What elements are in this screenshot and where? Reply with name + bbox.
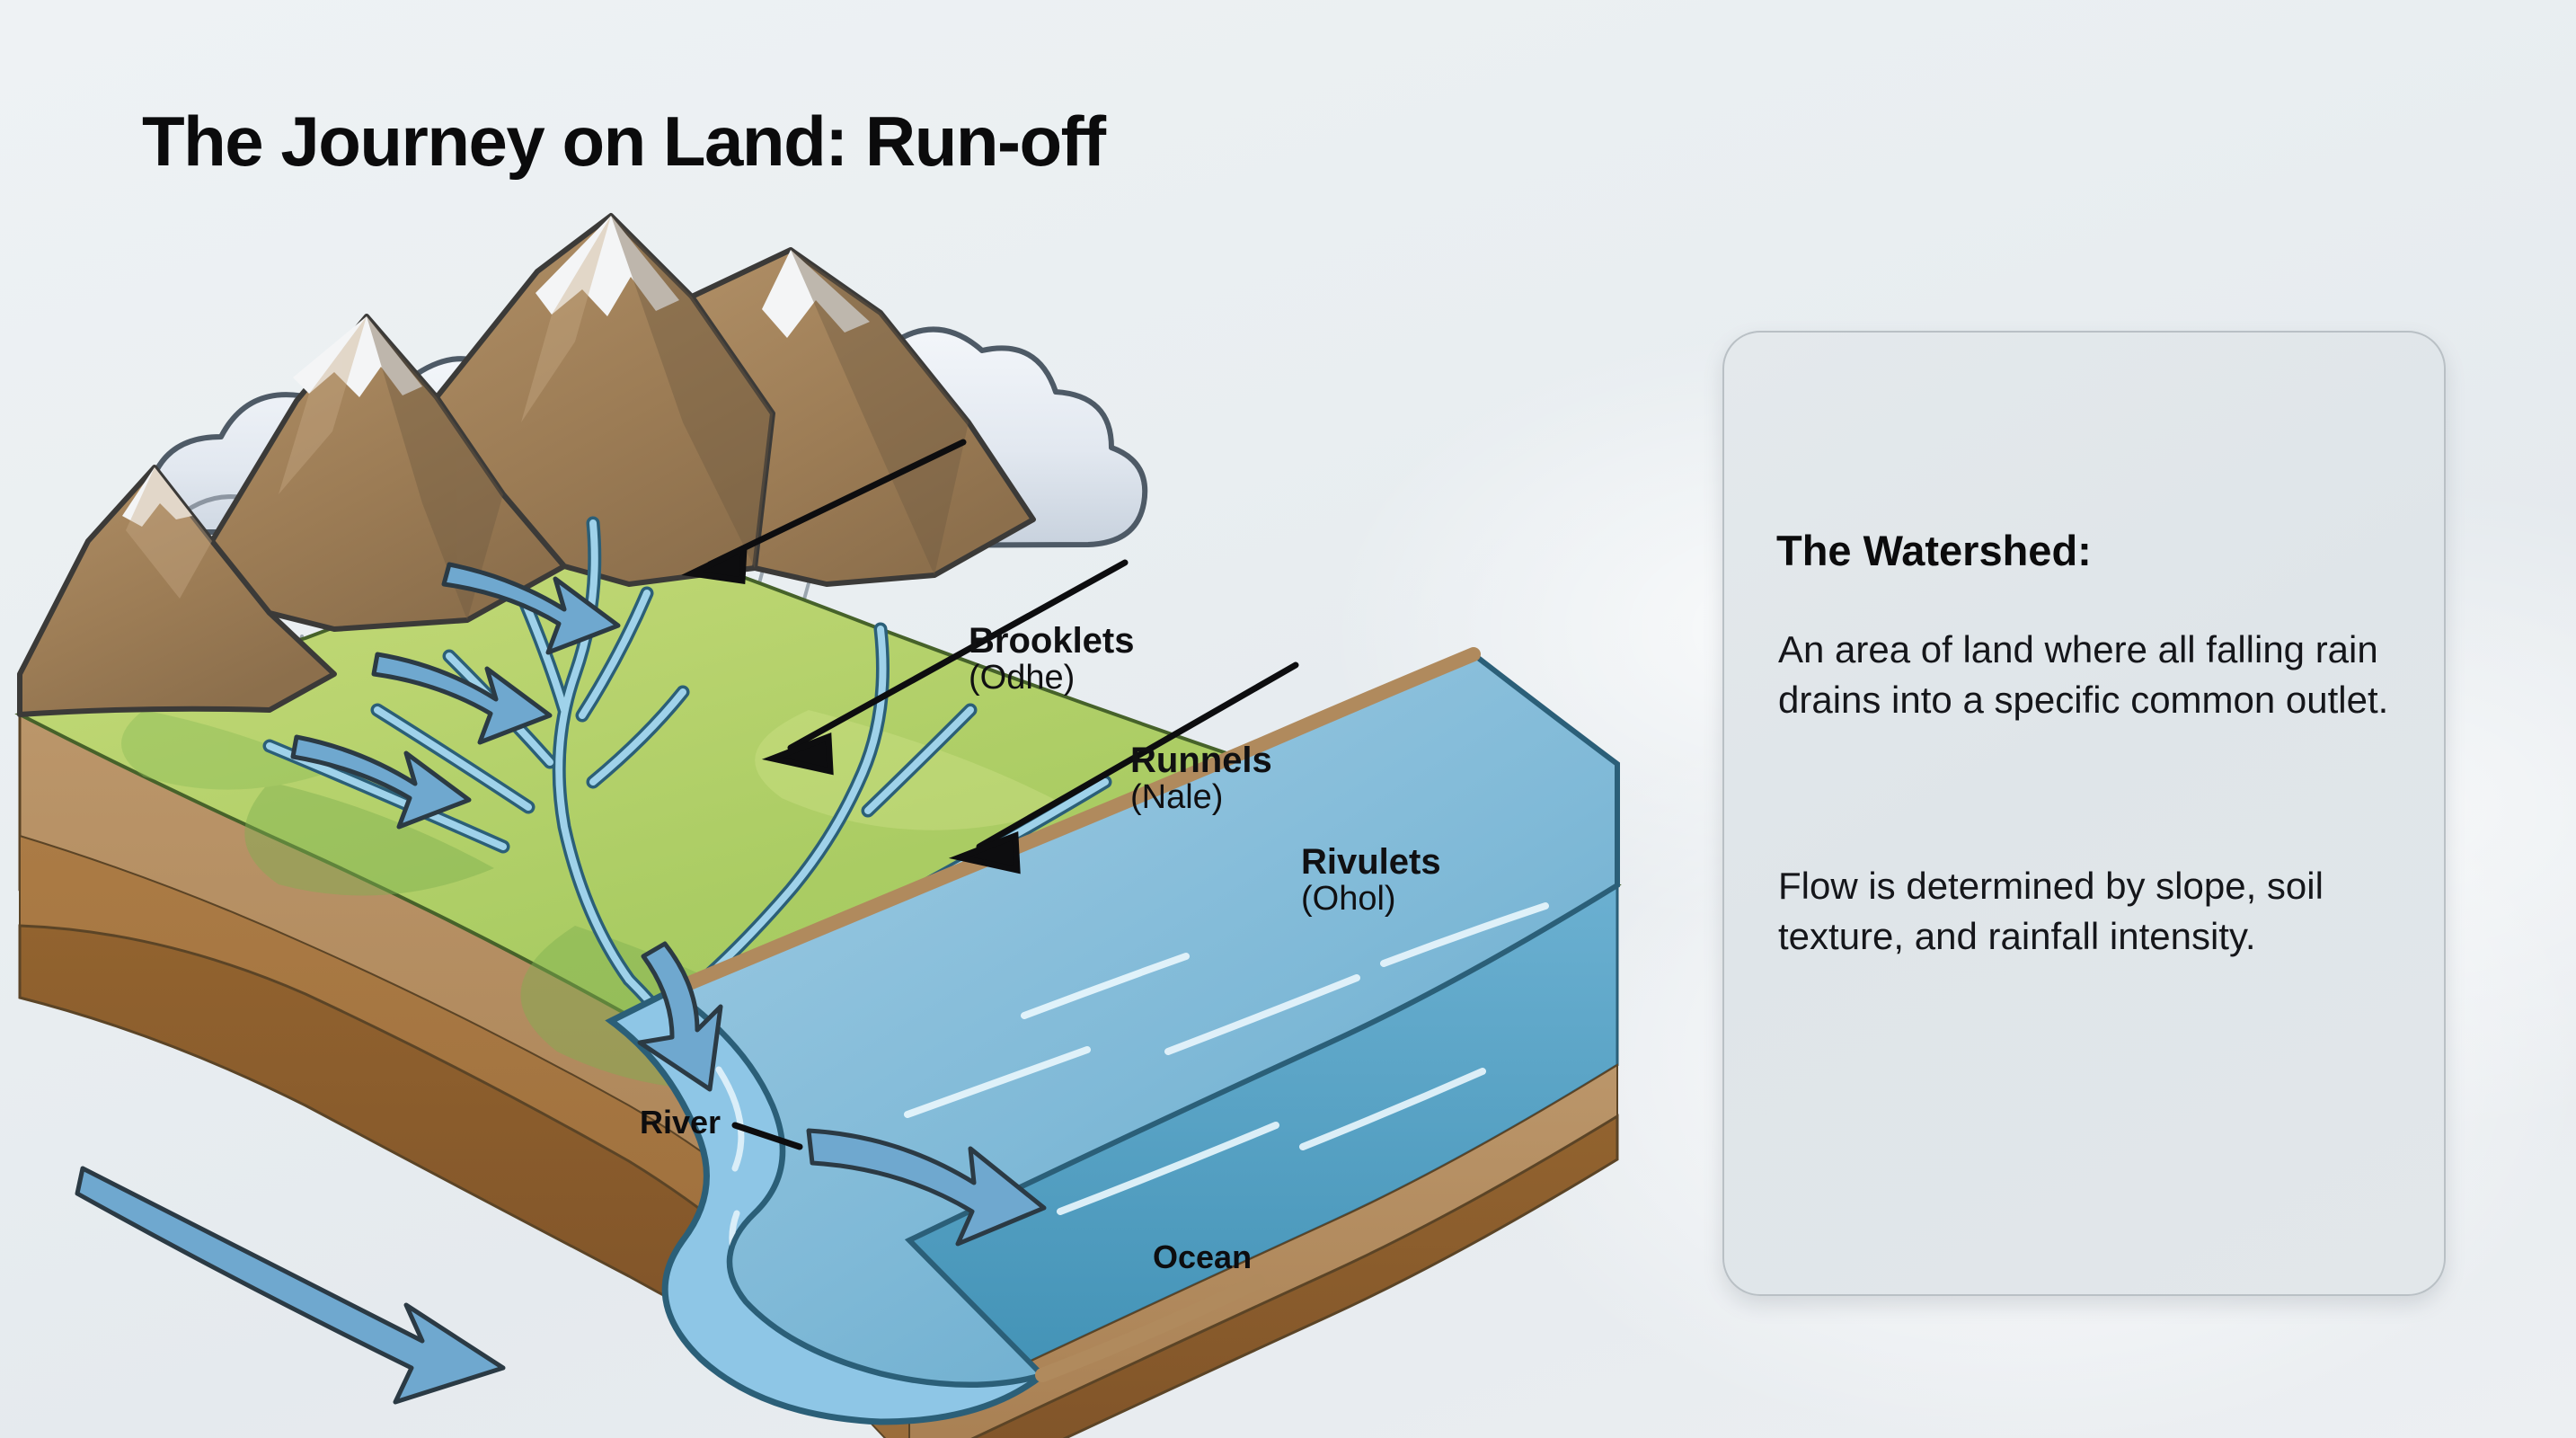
callout-rivulets-main: Rivulets [1301, 843, 1441, 881]
callout-rivulets-sub: (Ohol) [1301, 881, 1441, 917]
subsurface-flow-arrow [77, 1168, 503, 1402]
callout-brooklets-sub: (Odhe) [969, 660, 1135, 696]
panel-paragraph-1: An area of land where all falling rain d… [1778, 625, 2398, 725]
panel-paragraph-2: Flow is determined by slope, soil textur… [1778, 861, 2398, 962]
label-ocean: Ocean [1153, 1238, 1252, 1276]
watershed-info-panel: The Watershed: An area of land where all… [1722, 331, 2446, 1296]
panel-heading: The Watershed: [1776, 526, 2092, 575]
page-title: The Journey on Land: Run-off [142, 101, 1105, 182]
label-river: River [640, 1104, 721, 1141]
callout-rivulets: Rivulets (Ohol) [1301, 843, 1441, 918]
callout-runnels-sub: (Nale) [1130, 779, 1272, 815]
callout-runnels: Runnels (Nale) [1130, 741, 1272, 816]
callout-brooklets: Brooklets (Odhe) [969, 622, 1135, 697]
watershed-diagram: Brooklets (Odhe) Runnels (Nale) Rivulets… [0, 207, 1671, 1438]
slide-canvas: The Journey on Land: Run-off [0, 0, 2576, 1438]
callout-brooklets-main: Brooklets [969, 622, 1135, 660]
callout-runnels-main: Runnels [1130, 741, 1272, 779]
